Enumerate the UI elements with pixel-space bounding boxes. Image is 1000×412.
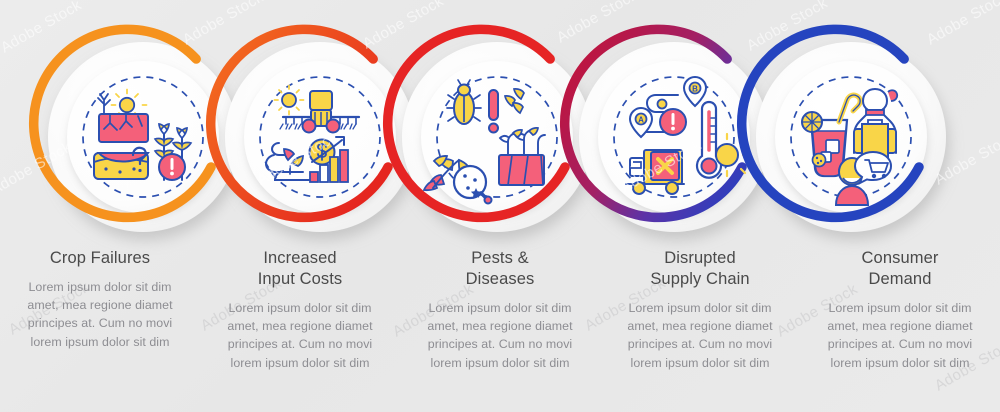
svg-text:A: A [638,116,644,125]
step-title-1: Crop Failures [50,248,150,269]
steps-text-row: Crop Failures Lorem ipsum dolor sit dim … [0,248,1000,408]
step-description-1: Lorem ipsum dolor sit dim amet, mea regi… [27,278,172,351]
step-description-5: Lorem ipsum dolor sit dim amet, mea regi… [827,299,972,372]
step-text-3[interactable]: Pests & Diseases Lorem ipsum dolor sit d… [400,248,600,408]
step-description-3: Lorem ipsum dolor sit dim amet, mea regi… [427,299,572,372]
step-title-2: Increased Input Costs [258,248,343,290]
step-text-1[interactable]: Crop Failures Lorem ipsum dolor sit dim … [0,248,200,408]
step-text-4[interactable]: Disrupted Supply Chain Lorem ipsum dolor… [600,248,800,408]
step-title-4: Disrupted Supply Chain [650,248,749,290]
step-text-2[interactable]: Increased Input Costs Lorem ipsum dolor … [200,248,400,408]
step-circle-5[interactable] [742,29,946,232]
step-text-5[interactable]: Consumer Demand Lorem ipsum dolor sit di… [800,248,1000,408]
step-description-2: Lorem ipsum dolor sit dim amet, mea regi… [227,299,372,372]
step-description-4: Lorem ipsum dolor sit dim amet, mea regi… [627,299,772,372]
infographic-root: B A [0,0,1000,412]
step-title-3: Pests & Diseases [466,248,535,290]
step-title-5: Consumer Demand [862,248,939,290]
svg-text:B: B [692,85,698,94]
